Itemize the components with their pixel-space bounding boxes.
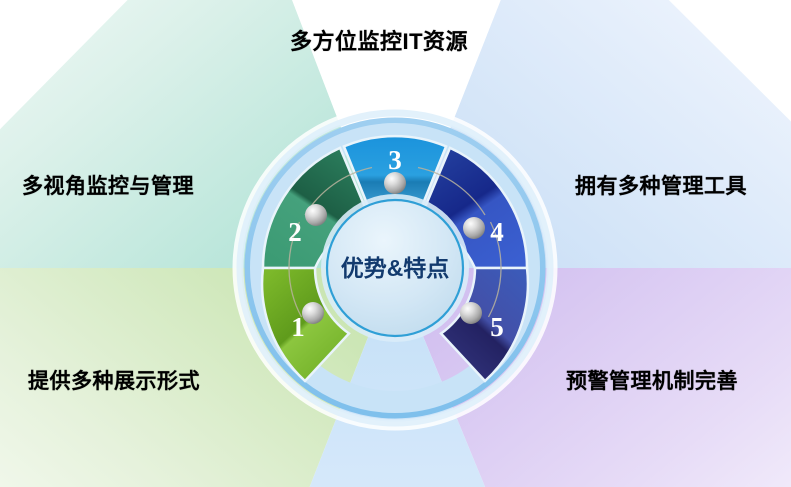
marker-sphere-3	[384, 172, 406, 194]
wheel-diagram: 3 2 1 4 5 优势&特点	[0, 0, 791, 487]
segment-number-2: 2	[288, 217, 302, 247]
label-right-bottom: 预警管理机制完善	[566, 365, 738, 395]
label-left-bottom: 提供多种展示形式	[28, 365, 200, 395]
marker-sphere-5	[460, 302, 482, 324]
marker-sphere-1	[302, 302, 324, 324]
label-right-top: 拥有多种管理工具	[575, 170, 747, 200]
marker-sphere-4	[463, 217, 485, 239]
label-top-title: 多方位监控IT资源	[290, 24, 468, 56]
label-left-top: 多视角监控与管理	[22, 170, 194, 200]
segment-number-3: 3	[388, 145, 402, 175]
diagram-canvas: 3 2 1 4 5 优势&特点 多方位监控IT资源 多视角监控与管理 提供多种展…	[0, 0, 791, 487]
segment-number-4: 4	[490, 217, 504, 247]
center-label: 优势&特点	[341, 255, 450, 281]
segment-number-5: 5	[490, 312, 504, 342]
center-hub[interactable]: 优势&特点	[321, 194, 469, 342]
marker-sphere-2	[305, 204, 327, 226]
